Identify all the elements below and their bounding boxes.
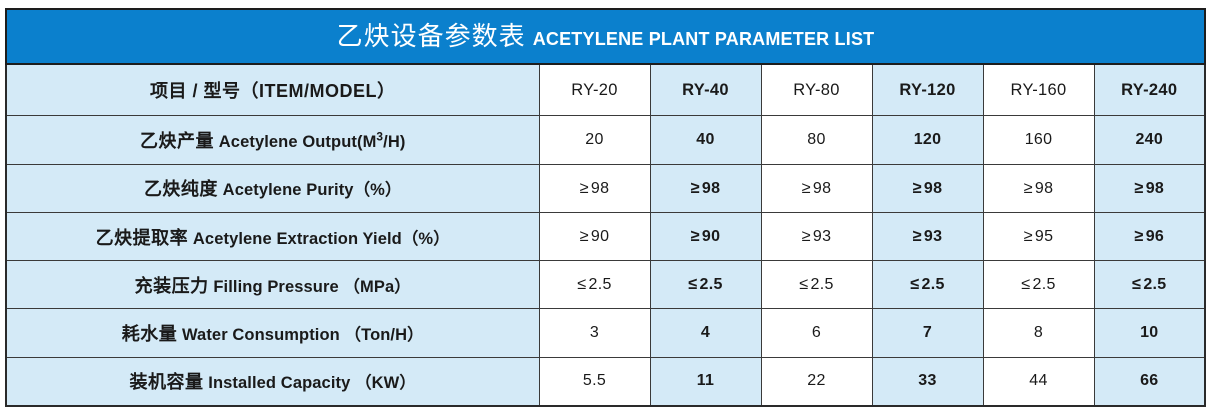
cell-value: ≤2.5 [983,261,1094,309]
cell-value: 80 [761,116,872,164]
column-header-ry-160: RY-160 [983,64,1094,116]
row-label-cn: 乙炔纯度 [144,179,218,199]
row-label-cn: 乙炔产量 [140,131,214,151]
cell-value: ≥90 [539,212,650,260]
cell-value: 10 [1094,309,1205,357]
column-header-ry-20: RY-20 [539,64,650,116]
acetylene-plant-parameter-table: 乙炔设备参数表 ACETYLENE PLANT PARAMETER LIST 项… [5,8,1206,407]
cell-value: 33 [872,357,983,406]
cell-value: ≤2.5 [539,261,650,309]
cell-value: 11 [650,357,761,406]
row-label-cn: 充装压力 [135,276,209,296]
cell-value: 66 [1094,357,1205,406]
cell-value: ≤2.5 [650,261,761,309]
table-title-chinese: 乙炔设备参数表 [337,23,526,49]
cell-value: ≥90 [650,212,761,260]
row-label-en: Water Consumption （Ton/H） [182,326,424,344]
spec-table-container: 乙炔设备参数表 ACETYLENE PLANT PARAMETER LIST 项… [5,8,1205,407]
row-label-filling-pressure: 充装压力 Filling Pressure （MPa） [6,261,539,309]
table-row-filling-pressure: 充装压力 Filling Pressure （MPa） ≤2.5 ≤2.5 ≤2… [6,261,1205,309]
row-label-en: Acetylene Purity（%） [223,181,402,199]
header-item-model-text: 项目 / 型号（ITEM/MODEL） [150,81,396,101]
cell-value: 5.5 [539,357,650,406]
cell-value: ≤2.5 [872,261,983,309]
cell-value: ≥95 [983,212,1094,260]
cell-value: ≥96 [1094,212,1205,260]
row-label-acetylene-extraction-yield: 乙炔提取率 Acetylene Extraction Yield（%） [6,212,539,260]
table-row-acetylene-extraction-yield: 乙炔提取率 Acetylene Extraction Yield（%） ≥90 … [6,212,1205,260]
header-item-model-label: 项目 / 型号（ITEM/MODEL） [6,64,539,116]
cell-value: 3 [539,309,650,357]
cell-value: ≥98 [983,164,1094,212]
cell-value: ≤2.5 [1094,261,1205,309]
column-header-ry-240: RY-240 [1094,64,1205,116]
column-header-ry-80: RY-80 [761,64,872,116]
cell-value: ≥98 [650,164,761,212]
row-label-en: Filling Pressure （MPa） [213,278,411,296]
cell-value: ≥98 [872,164,983,212]
row-label-en: Installed Capacity （KW） [208,374,416,392]
row-label-acetylene-purity: 乙炔纯度 Acetylene Purity（%） [6,164,539,212]
table-title-cell: 乙炔设备参数表 ACETYLENE PLANT PARAMETER LIST [6,9,1205,64]
cell-value: ≤2.5 [761,261,872,309]
row-label-installed-capacity: 装机容量 Installed Capacity （KW） [6,357,539,406]
cell-value: 6 [761,309,872,357]
cell-value: ≥98 [1094,164,1205,212]
cell-value: 20 [539,116,650,164]
cell-value: ≥98 [539,164,650,212]
cell-value: 40 [650,116,761,164]
cell-value: ≥93 [872,212,983,260]
row-label-water-consumption: 耗水量 Water Consumption （Ton/H） [6,309,539,357]
cell-value: 22 [761,357,872,406]
row-label-cn: 乙炔提取率 [96,228,189,248]
table-row-acetylene-purity: 乙炔纯度 Acetylene Purity（%） ≥98 ≥98 ≥98 ≥98… [6,164,1205,212]
row-label-acetylene-output: 乙炔产量 Acetylene Output(M3/H) [6,116,539,164]
cell-value: 8 [983,309,1094,357]
cell-value: 4 [650,309,761,357]
cell-value: 160 [983,116,1094,164]
table-title-english: ACETYLENE PLANT PARAMETER LIST [533,30,875,48]
column-header-ry-120: RY-120 [872,64,983,116]
column-header-ry-40: RY-40 [650,64,761,116]
cell-value: 7 [872,309,983,357]
table-row-water-consumption: 耗水量 Water Consumption （Ton/H） 3 4 6 7 8 … [6,309,1205,357]
cell-value: 120 [872,116,983,164]
cell-value: 44 [983,357,1094,406]
column-header-row: 项目 / 型号（ITEM/MODEL） RY-20 RY-40 RY-80 RY… [6,64,1205,116]
cell-value: 240 [1094,116,1205,164]
row-label-en: Acetylene Output(M3/H) [219,133,406,151]
table-row-acetylene-output: 乙炔产量 Acetylene Output(M3/H) 20 40 80 120… [6,116,1205,164]
cell-value: ≥93 [761,212,872,260]
table-title-row: 乙炔设备参数表 ACETYLENE PLANT PARAMETER LIST [6,9,1205,64]
row-label-cn: 耗水量 [122,324,178,344]
table-row-installed-capacity: 装机容量 Installed Capacity （KW） 5.5 11 22 3… [6,357,1205,406]
row-label-en: Acetylene Extraction Yield（%） [193,230,450,248]
row-label-cn: 装机容量 [130,372,204,392]
cell-value: ≥98 [761,164,872,212]
